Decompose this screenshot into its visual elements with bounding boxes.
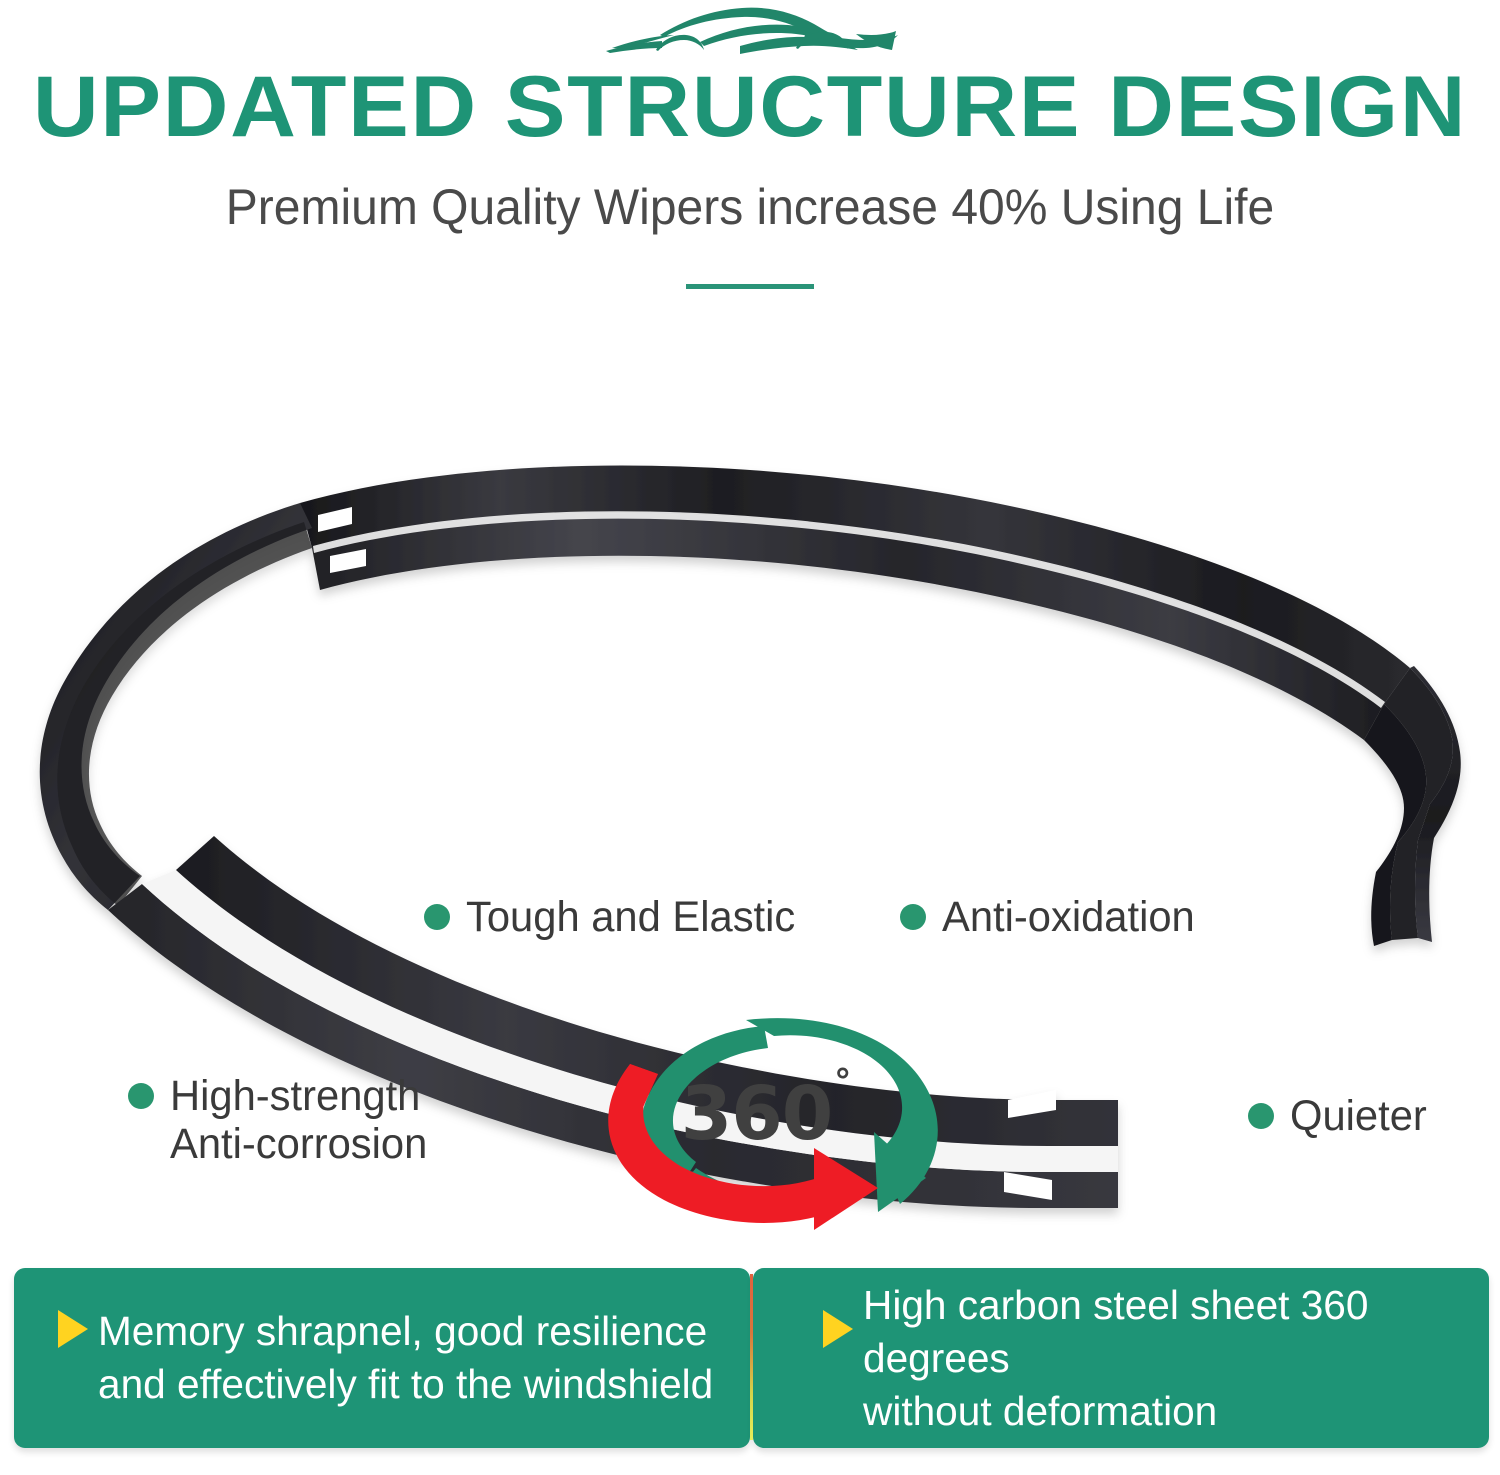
feature-tough-and-elastic: Tough and Elastic	[424, 893, 805, 941]
feature-label: Anti-oxidation	[942, 893, 1195, 941]
triangle-bullet-icon	[58, 1310, 88, 1348]
page-title: UPDATED STRUCTURE DESIGN	[0, 60, 1500, 154]
feature-label: Quieter	[1290, 1092, 1427, 1140]
bullet-dot-icon	[900, 904, 926, 930]
feature-quieter: Quieter	[1248, 1092, 1431, 1140]
product-image-area: Tough and Elastic Anti-oxidation High-st…	[0, 310, 1500, 1245]
page-subtitle: Premium Quality Wipers increase 40% Usin…	[30, 176, 1470, 238]
banner-memory-shrapnel: Memory shrapnel, good resilience and eff…	[14, 1268, 750, 1448]
car-silhouette-logo-icon	[600, 2, 900, 64]
bottom-banner-row: Memory shrapnel, good resilience and eff…	[0, 1268, 1500, 1448]
feature-anti-oxidation: Anti-oxidation	[900, 893, 1203, 941]
banner-text: Memory shrapnel, good resilience and eff…	[98, 1305, 713, 1411]
feature-high-strength-anti-corrosion: High-strength Anti-corrosion	[128, 1072, 435, 1168]
banner-high-carbon-steel: High carbon steel sheet 360 degrees with…	[753, 1268, 1489, 1448]
feature-label: High-strength Anti-corrosion	[170, 1072, 427, 1168]
header-section: UPDATED STRUCTURE DESIGN Premium Quality…	[0, 0, 1500, 310]
triangle-bullet-icon	[823, 1310, 853, 1348]
feature-label: Tough and Elastic	[466, 893, 795, 941]
360-degree-badge: 360°	[578, 1002, 968, 1237]
bullet-dot-icon	[128, 1083, 154, 1109]
bullet-dot-icon	[1248, 1103, 1274, 1129]
banner-text: High carbon steel sheet 360 degrees with…	[863, 1279, 1469, 1438]
bullet-dot-icon	[424, 904, 450, 930]
title-underline-rule	[686, 284, 814, 289]
banner-divider	[750, 1274, 753, 1440]
